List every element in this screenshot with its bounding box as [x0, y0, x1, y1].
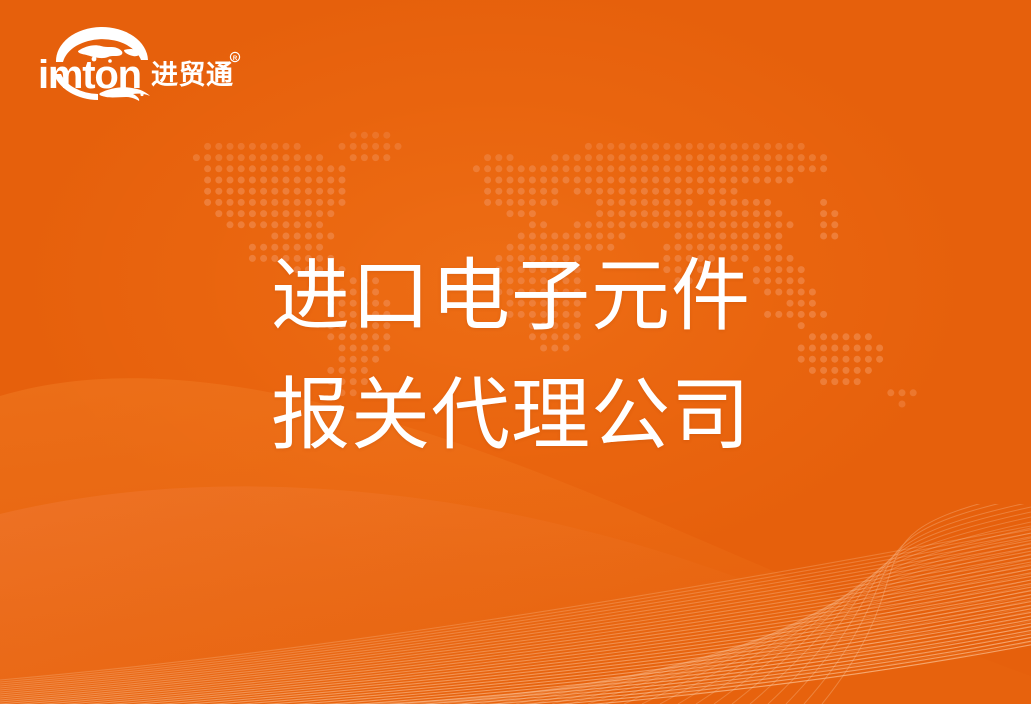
promo-banner: imton 进贸通 R 进口电子元件 报关代理公司 — [0, 0, 1031, 704]
brand-logo[interactable]: imton 进贸通 R — [38, 26, 268, 106]
curved-line-fan — [0, 504, 1031, 704]
svg-text:进贸通: 进贸通 — [151, 60, 234, 90]
svg-text:imton: imton — [38, 53, 141, 97]
logo-chinese-name: 进贸通 — [151, 60, 234, 90]
trademark-letter: R — [233, 56, 238, 62]
logo-wordmark: imton — [38, 53, 141, 97]
headline-line-1: 进口电子元件 — [271, 236, 831, 355]
headline-line-2: 报关代理公司 — [271, 355, 831, 474]
headline-block: 进口电子元件 报关代理公司 — [271, 236, 831, 474]
